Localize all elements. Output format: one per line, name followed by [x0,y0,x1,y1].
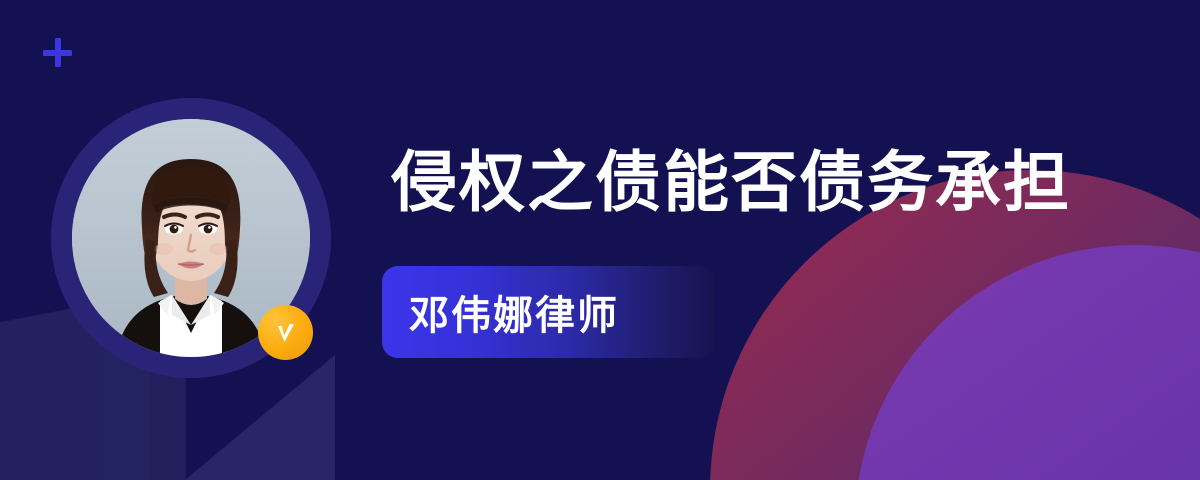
lawyer-name-badge[interactable]: 邓伟娜律师 [382,266,714,358]
page-title: 侵权之债能否债务承担 [382,150,1082,216]
verified-check-icon [258,305,313,360]
avatar[interactable] [51,98,331,378]
lawyer-name-label: 邓伟娜律师 [382,283,619,341]
plus-icon [43,38,72,67]
content-block: 侵权之债能否债务承担 邓伟娜律师 [382,150,1082,216]
lawyer-topic-banner: 侵权之债能否债务承担 邓伟娜律师 [0,0,1200,480]
plus-icon-bar-vertical [55,38,61,67]
